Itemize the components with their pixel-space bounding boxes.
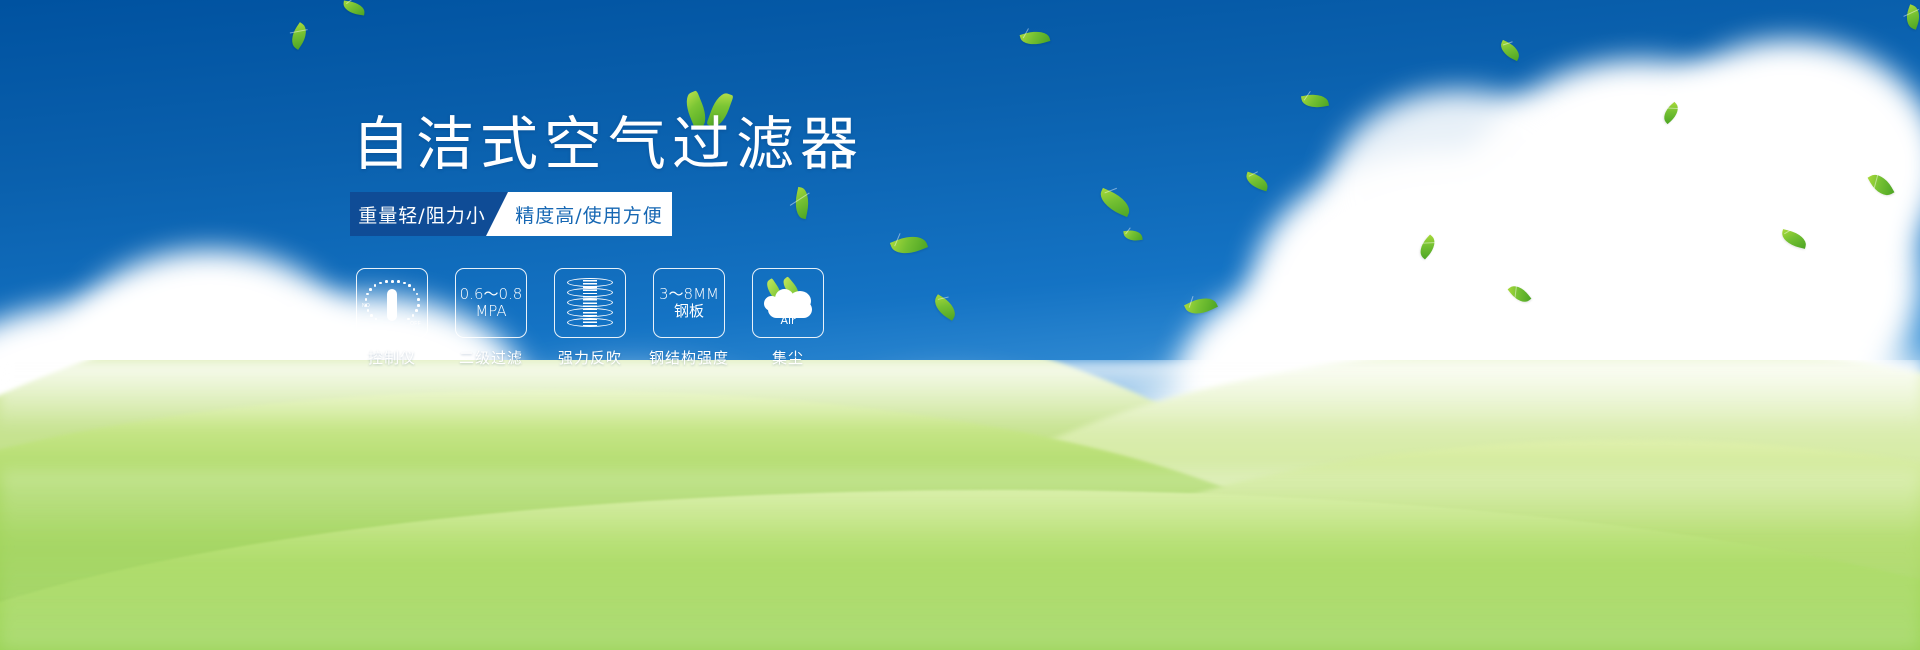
feature-label: 二级过滤 xyxy=(459,347,523,368)
steel-thickness-text: 3～8MM xyxy=(659,286,719,303)
page-title: 自洁式空气过滤器 xyxy=(352,115,864,173)
feature-label: 钢结构强度 xyxy=(649,347,729,368)
gauge-needle xyxy=(387,289,397,321)
feature-item-controller[interactable]: NO OFF 控制仪 xyxy=(356,268,428,368)
feature-list: NO OFF 控制仪 0.6～0.8 MPA 二级过滤 xyxy=(356,268,824,368)
pressure-unit-text: MPA xyxy=(475,303,506,320)
gauge-no-label: NO xyxy=(362,303,370,309)
tagline-pill-secondary: 精度高/使用方便 xyxy=(486,192,672,236)
feature-label: 强力反吹 xyxy=(558,347,622,368)
gauge-icon: NO OFF xyxy=(356,268,428,338)
banner-content: 自洁式空气过滤器 重量轻/阻力小 精度高/使用方便 xyxy=(0,0,1920,650)
tagline-pill-primary: 重量轻/阻力小 xyxy=(350,192,508,236)
pressure-icon: 0.6～0.8 MPA xyxy=(455,268,527,338)
feature-item-steel[interactable]: 3～8MM 钢板 钢结构强度 xyxy=(653,268,725,368)
feature-item-dust-collection[interactable]: Air 集尘 xyxy=(752,268,824,368)
tagline-pills: 重量轻/阻力小 精度高/使用方便 xyxy=(350,192,672,236)
gauge-dial: NO OFF xyxy=(364,277,420,329)
feature-label: 控制仪 xyxy=(368,347,416,368)
pressure-range-text: 0.6～0.8 xyxy=(460,286,523,303)
feature-item-blowback[interactable]: 强力反吹 xyxy=(554,268,626,368)
air-label: Air xyxy=(760,314,816,327)
banner-hero: 自洁式空气过滤器 重量轻/阻力小 精度高/使用方便 xyxy=(0,0,1920,650)
feature-label: 集尘 xyxy=(772,347,804,368)
feature-item-filtration[interactable]: 0.6～0.8 MPA 二级过滤 xyxy=(455,268,527,368)
air-cloud-icon: Air xyxy=(752,268,824,338)
blowback-coil xyxy=(567,278,613,328)
blowback-icon xyxy=(554,268,626,338)
air-cloud-shape: Air xyxy=(760,280,816,326)
gauge-off-label: OFF xyxy=(410,321,421,327)
steel-plate-text: 钢板 xyxy=(674,303,704,320)
steel-plate-icon: 3～8MM 钢板 xyxy=(653,268,725,338)
